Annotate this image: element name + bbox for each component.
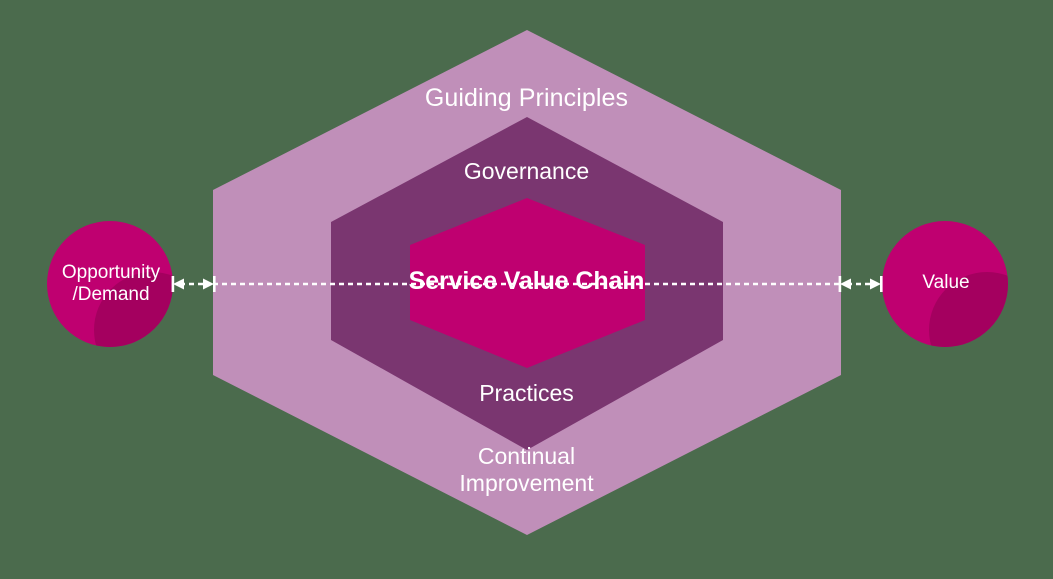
connector-input-arrow <box>172 276 216 292</box>
circle-value <box>882 221 1045 388</box>
diagram-shapes <box>0 0 1053 579</box>
connector-output-arrow <box>839 276 883 292</box>
circle-opportunity-demand <box>47 221 210 388</box>
service-value-system-diagram: Guiding Principles Governance Service Va… <box>0 0 1053 579</box>
